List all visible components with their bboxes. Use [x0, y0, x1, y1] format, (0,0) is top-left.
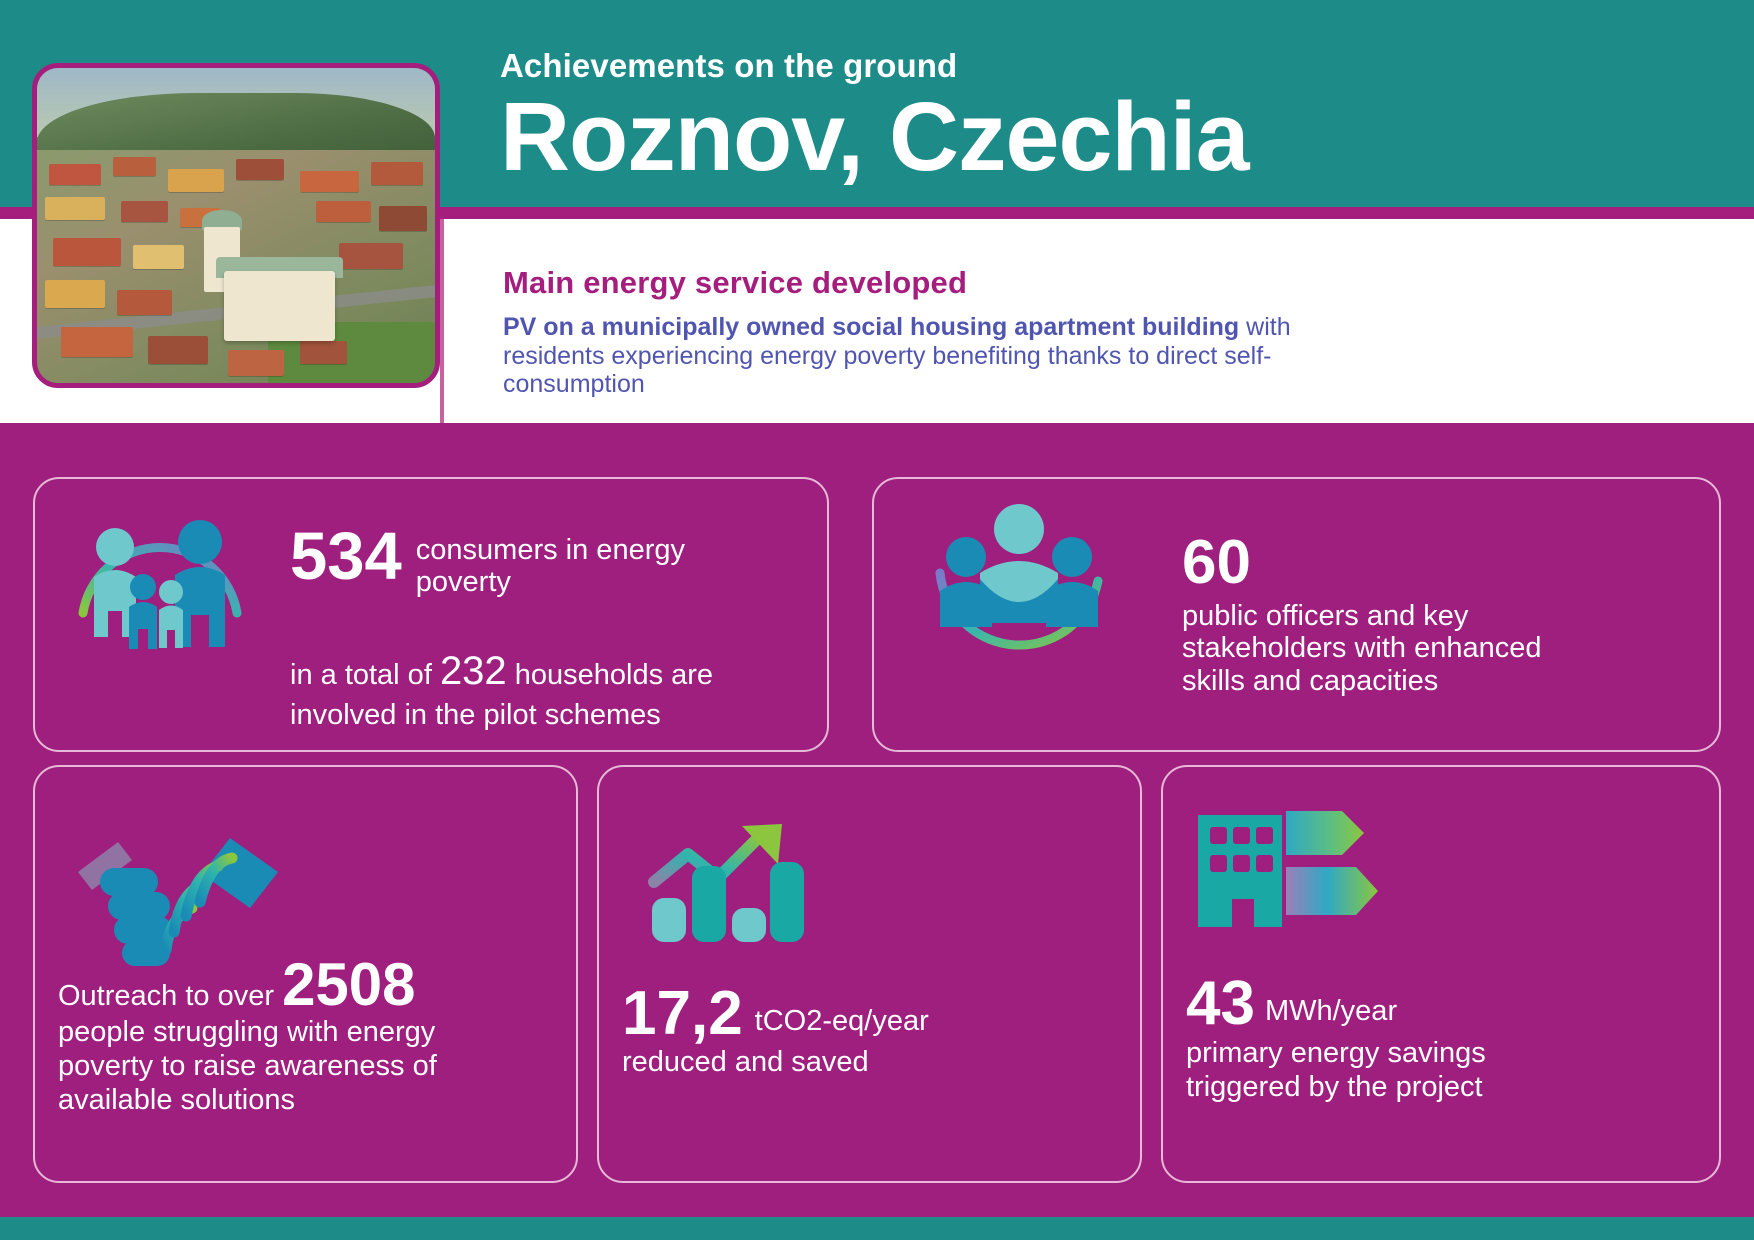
header-eyebrow: Achievements on the ground [500, 48, 1700, 84]
households-primary-line: 534 consumers in energy poverty [290, 525, 760, 599]
building-savings-icon [1190, 805, 1380, 960]
co2-unit: tCO2-eq/year [755, 1005, 929, 1044]
city-photo-image [37, 68, 435, 383]
co2-primary-row: 17,2 tCO2-eq/year [622, 985, 1022, 1044]
service-description-bold: PV on a municipally owned social housing… [503, 313, 1239, 341]
energy-unit: MWh/year [1265, 995, 1397, 1034]
photo-church-body [224, 271, 335, 341]
households-secondary-prefix: in a total of [290, 659, 440, 691]
service-description: PV on a municipally owned social housing… [503, 313, 1353, 399]
co2-text: 17,2 tCO2-eq/year reduced and saved [622, 985, 1022, 1079]
households-label: consumers in energy poverty [416, 525, 760, 599]
energy-text: 43 MWh/year primary energy savings trigg… [1186, 975, 1586, 1104]
header-text-block: Achievements on the ground Roznov, Czech… [500, 48, 1700, 188]
officers-number: 60 [1182, 532, 1251, 594]
outreach-text: Outreach to over 2508people struggling w… [58, 955, 478, 1118]
households-secondary-number: 232 [440, 649, 507, 693]
family-icon [75, 495, 245, 665]
bar-chart-growth-icon [648, 820, 808, 965]
outreach-prefix: Outreach to over [58, 980, 282, 1012]
city-photo [32, 63, 440, 388]
energy-primary-row: 43 MWh/year [1186, 975, 1586, 1034]
service-band-rule [440, 219, 444, 423]
outreach-label: people struggling with energy poverty to… [58, 1016, 437, 1116]
co2-number: 17,2 [622, 985, 743, 1044]
people-group-icon [930, 495, 1108, 660]
page-title: Roznov, Czechia [500, 86, 1700, 188]
energy-label: primary energy savings triggered by the … [1186, 1036, 1586, 1104]
households-number: 534 [290, 525, 402, 589]
households-secondary-line: in a total of 232 households are involve… [290, 645, 760, 735]
service-heading: Main energy service developed [503, 265, 967, 301]
energy-number: 43 [1186, 975, 1255, 1034]
officers-label: public officers and key stakeholders wit… [1182, 600, 1602, 697]
outreach-number: 2508 [282, 951, 415, 1018]
co2-label: reduced and saved [622, 1046, 1022, 1079]
page-footer [0, 1217, 1754, 1240]
photo-town [37, 150, 435, 383]
